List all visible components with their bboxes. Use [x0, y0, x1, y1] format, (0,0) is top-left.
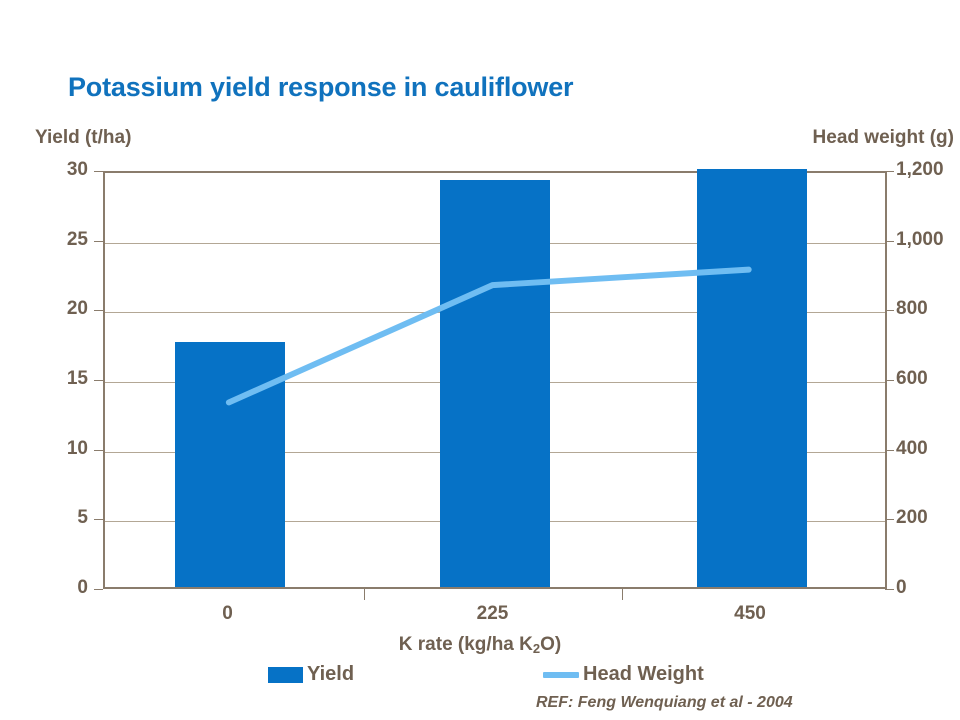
y2-tick-mark — [885, 589, 894, 590]
legend-label-head-weight: Head Weight — [581, 663, 704, 686]
head-weight-polyline — [229, 270, 749, 403]
y2-tick-mark — [885, 310, 894, 311]
legend-item-yield[interactable]: Yield — [268, 663, 354, 686]
primary-y-axis-title: Yield (t/ha) — [35, 127, 131, 149]
y2-tick-mark — [885, 519, 894, 520]
y2-tick-label: 400 — [896, 438, 928, 460]
y2-tick-mark — [885, 450, 894, 451]
y-tick-mark — [94, 450, 103, 451]
y2-tick-mark — [885, 241, 894, 242]
y2-tick-label: 800 — [896, 298, 928, 320]
secondary-y-axis-title: Head weight (g) — [813, 127, 954, 149]
y-tick-label: 0 — [77, 577, 88, 599]
y-tick-mark — [94, 519, 103, 520]
y-tick-mark — [94, 171, 103, 172]
y-tick-mark — [94, 241, 103, 242]
x-tick-label: 225 — [477, 603, 509, 625]
y2-tick-label: 0 — [896, 577, 907, 599]
legend-swatch-bar-icon — [268, 667, 303, 683]
x-axis-title: K rate (kg/ha K2O) — [0, 634, 960, 656]
x-tick-label: 450 — [734, 603, 766, 625]
page-title: Potassium yield response in cauliflower — [68, 72, 573, 103]
y-tick-label: 30 — [67, 159, 88, 181]
y-tick-mark — [94, 380, 103, 381]
legend-item-head-weight[interactable]: Head Weight — [543, 663, 704, 686]
chart-legend: Yield Head Weight — [0, 663, 960, 691]
x-tick-mark — [622, 589, 623, 600]
line-series-head-weight — [105, 173, 885, 587]
y-tick-label: 5 — [77, 507, 88, 529]
x-tick-label: 0 — [222, 603, 233, 625]
x-tick-mark — [364, 589, 365, 600]
y2-tick-label: 1,000 — [896, 229, 944, 251]
y-tick-label: 10 — [67, 438, 88, 460]
reference-note: REF: Feng Wenquiang et al - 2004 — [536, 694, 793, 712]
plot-area — [103, 171, 887, 589]
y-tick-mark — [94, 589, 103, 590]
legend-label-yield: Yield — [305, 663, 354, 686]
y-tick-label: 25 — [67, 229, 88, 251]
y-tick-label: 15 — [67, 368, 88, 390]
y2-tick-label: 200 — [896, 507, 928, 529]
slide-canvas: Potassium yield response in cauliflower … — [0, 0, 960, 720]
y-tick-label: 20 — [67, 298, 88, 320]
y2-tick-label: 600 — [896, 368, 928, 390]
y2-tick-mark — [885, 380, 894, 381]
y2-tick-mark — [885, 171, 894, 172]
legend-swatch-line-icon — [543, 672, 579, 678]
y2-tick-label: 1,200 — [896, 159, 944, 181]
y-tick-mark — [94, 310, 103, 311]
